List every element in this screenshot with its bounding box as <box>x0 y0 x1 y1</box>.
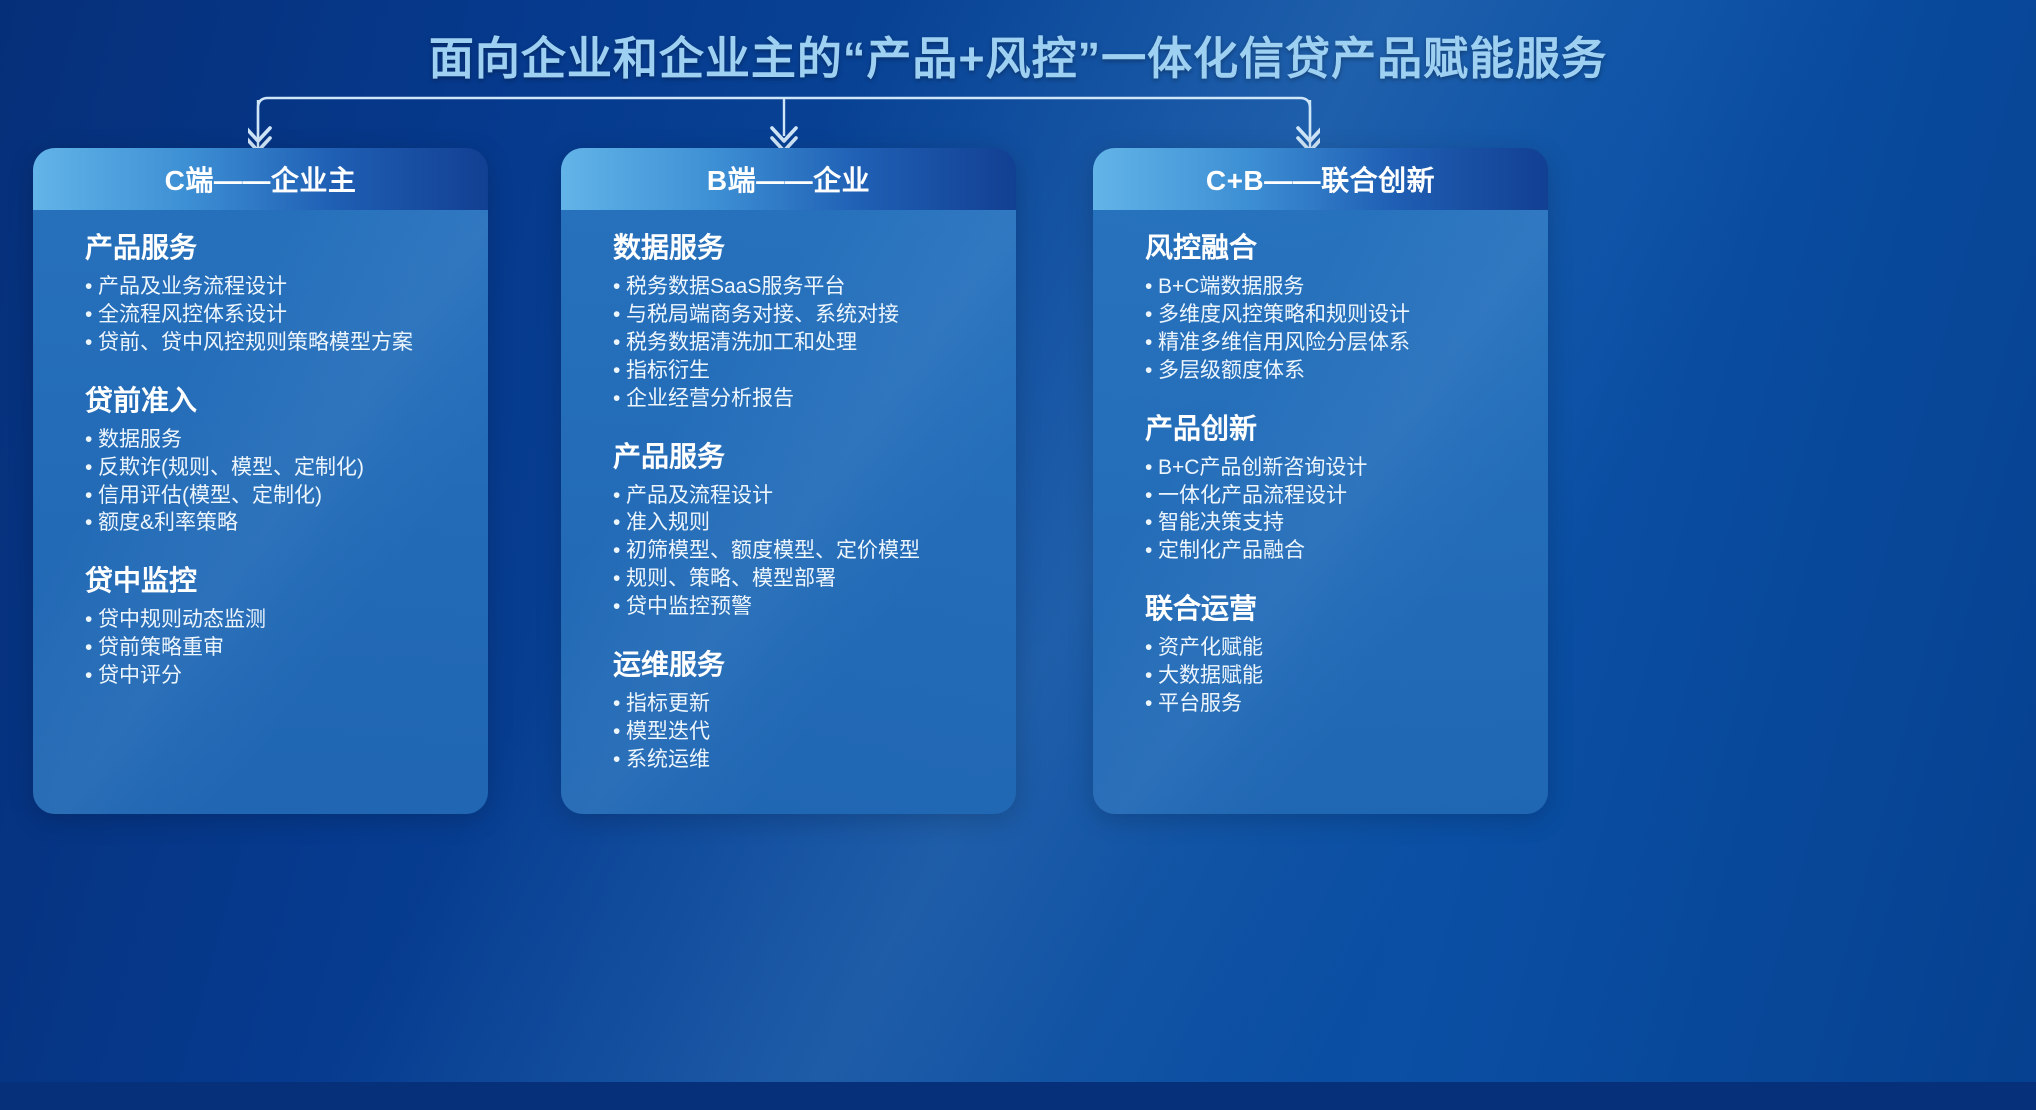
bullet-list: 数据服务 反欺诈(规则、模型、定制化) 信用评估(模型、定制化) 额度&利率策略 <box>85 426 488 538</box>
bullet-list: B+C产品创新咨询设计 一体化产品流程设计 智能决策支持 定制化产品融合 <box>1145 454 1548 566</box>
bullet-list: 贷中规则动态监测 贷前策略重审 贷中评分 <box>85 606 488 690</box>
list-item: 反欺诈(规则、模型、定制化) <box>85 454 488 482</box>
list-item: 多维度风控策略和规则设计 <box>1145 301 1548 329</box>
list-item: 贷中规则动态监测 <box>85 606 488 634</box>
section-in-loan-monitoring: 贷中监控 贷中规则动态监测 贷前策略重审 贷中评分 <box>85 563 488 690</box>
list-item: 准入规则 <box>613 509 1016 537</box>
list-item: 指标更新 <box>613 690 1016 718</box>
spacer <box>613 419 1016 439</box>
list-item: 定制化产品融合 <box>1145 537 1548 565</box>
spacer <box>1145 571 1548 591</box>
list-item: B+C产品创新咨询设计 <box>1145 454 1548 482</box>
section-risk-fusion: 风控融合 B+C端数据服务 多维度风控策略和规则设计 精准多维信用风险分层体系 … <box>1145 230 1548 385</box>
section-product-service: 产品服务 产品及流程设计 准入规则 初筛模型、额度模型、定价模型 规则、策略、模… <box>613 439 1016 622</box>
section-title: 贷中监控 <box>85 563 488 600</box>
list-item: 额度&利率策略 <box>85 509 488 537</box>
spacer <box>1145 391 1548 411</box>
section-title: 数据服务 <box>613 230 1016 267</box>
list-item: 税务数据清洗加工和处理 <box>613 329 1016 357</box>
section-product-service: 产品服务 产品及业务流程设计 全流程风控体系设计 贷前、贷中风控规则策略模型方案 <box>85 230 488 357</box>
section-title: 产品创新 <box>1145 411 1548 448</box>
list-item: 产品及流程设计 <box>613 482 1016 510</box>
bullet-list: 产品及流程设计 准入规则 初筛模型、额度模型、定价模型 规则、策略、模型部署 贷… <box>613 482 1016 622</box>
slide-canvas: 面向企业和企业主的“产品+风控”一体化信贷产品赋能服务 C端——企业主 产品 <box>0 0 2036 1110</box>
bullet-list: 税务数据SaaS服务平台 与税局端商务对接、系统对接 税务数据清洗加工和处理 指… <box>613 273 1016 413</box>
card-header-c-end: C端——企业主 <box>33 148 488 210</box>
list-item: 一体化产品流程设计 <box>1145 482 1548 510</box>
list-item: 系统运维 <box>613 746 1016 774</box>
list-item: 贷中监控预警 <box>613 593 1016 621</box>
list-item: 智能决策支持 <box>1145 509 1548 537</box>
section-pre-loan-admission: 贷前准入 数据服务 反欺诈(规则、模型、定制化) 信用评估(模型、定制化) 额度… <box>85 383 488 538</box>
list-item: 平台服务 <box>1145 690 1548 718</box>
list-item: 贷中评分 <box>85 662 488 690</box>
section-title: 产品服务 <box>613 439 1016 476</box>
section-title: 产品服务 <box>85 230 488 267</box>
connector-bracket <box>248 92 1320 154</box>
bullet-list: 产品及业务流程设计 全流程风控体系设计 贷前、贷中风控规则策略模型方案 <box>85 273 488 357</box>
list-item: 多层级额度体系 <box>1145 357 1548 385</box>
section-title: 风控融合 <box>1145 230 1548 267</box>
list-item: 产品及业务流程设计 <box>85 273 488 301</box>
card-body-c-plus-b: 风控融合 B+C端数据服务 多维度风控策略和规则设计 精准多维信用风险分层体系 … <box>1093 210 1548 814</box>
section-joint-operation: 联合运营 资产化赋能 大数据赋能 平台服务 <box>1145 591 1548 718</box>
list-item: 税务数据SaaS服务平台 <box>613 273 1016 301</box>
card-body-b-end: 数据服务 税务数据SaaS服务平台 与税局端商务对接、系统对接 税务数据清洗加工… <box>561 210 1016 814</box>
list-item: B+C端数据服务 <box>1145 273 1548 301</box>
list-item: 初筛模型、额度模型、定价模型 <box>613 537 1016 565</box>
list-item: 全流程风控体系设计 <box>85 301 488 329</box>
list-item: 信用评估(模型、定制化) <box>85 482 488 510</box>
card-c-end[interactable]: C端——企业主 产品服务 产品及业务流程设计 全流程风控体系设计 贷前、贷中风控… <box>33 148 488 814</box>
section-ops-service: 运维服务 指标更新 模型迭代 系统运维 <box>613 647 1016 774</box>
spacer <box>85 543 488 563</box>
cards-row: C端——企业主 产品服务 产品及业务流程设计 全流程风控体系设计 贷前、贷中风控… <box>0 148 2036 1058</box>
list-item: 指标衍生 <box>613 357 1016 385</box>
list-item: 数据服务 <box>85 426 488 454</box>
list-item: 规则、策略、模型部署 <box>613 565 1016 593</box>
card-header-b-end: B端——企业 <box>561 148 1016 210</box>
page-title: 面向企业和企业主的“产品+风控”一体化信贷产品赋能服务 <box>0 22 2036 87</box>
section-title: 运维服务 <box>613 647 1016 684</box>
list-item: 模型迭代 <box>613 718 1016 746</box>
bullet-list: B+C端数据服务 多维度风控策略和规则设计 精准多维信用风险分层体系 多层级额度… <box>1145 273 1548 385</box>
list-item: 企业经营分析报告 <box>613 385 1016 413</box>
spacer <box>613 627 1016 647</box>
section-title: 贷前准入 <box>85 383 488 420</box>
card-b-end[interactable]: B端——企业 数据服务 税务数据SaaS服务平台 与税局端商务对接、系统对接 税… <box>561 148 1016 814</box>
section-data-service: 数据服务 税务数据SaaS服务平台 与税局端商务对接、系统对接 税务数据清洗加工… <box>613 230 1016 413</box>
list-item: 与税局端商务对接、系统对接 <box>613 301 1016 329</box>
card-c-plus-b[interactable]: C+B——联合创新 风控融合 B+C端数据服务 多维度风控策略和规则设计 精准多… <box>1093 148 1548 814</box>
bullet-list: 指标更新 模型迭代 系统运维 <box>613 690 1016 774</box>
list-item: 资产化赋能 <box>1145 634 1548 662</box>
section-title: 联合运营 <box>1145 591 1548 628</box>
bullet-list: 资产化赋能 大数据赋能 平台服务 <box>1145 634 1548 718</box>
card-header-c-plus-b: C+B——联合创新 <box>1093 148 1548 210</box>
list-item: 大数据赋能 <box>1145 662 1548 690</box>
list-item: 贷前策略重审 <box>85 634 488 662</box>
section-product-innovation: 产品创新 B+C产品创新咨询设计 一体化产品流程设计 智能决策支持 定制化产品融… <box>1145 411 1548 566</box>
card-body-c-end: 产品服务 产品及业务流程设计 全流程风控体系设计 贷前、贷中风控规则策略模型方案… <box>33 210 488 814</box>
spacer <box>85 363 488 383</box>
list-item: 贷前、贷中风控规则策略模型方案 <box>85 329 488 357</box>
list-item: 精准多维信用风险分层体系 <box>1145 329 1548 357</box>
